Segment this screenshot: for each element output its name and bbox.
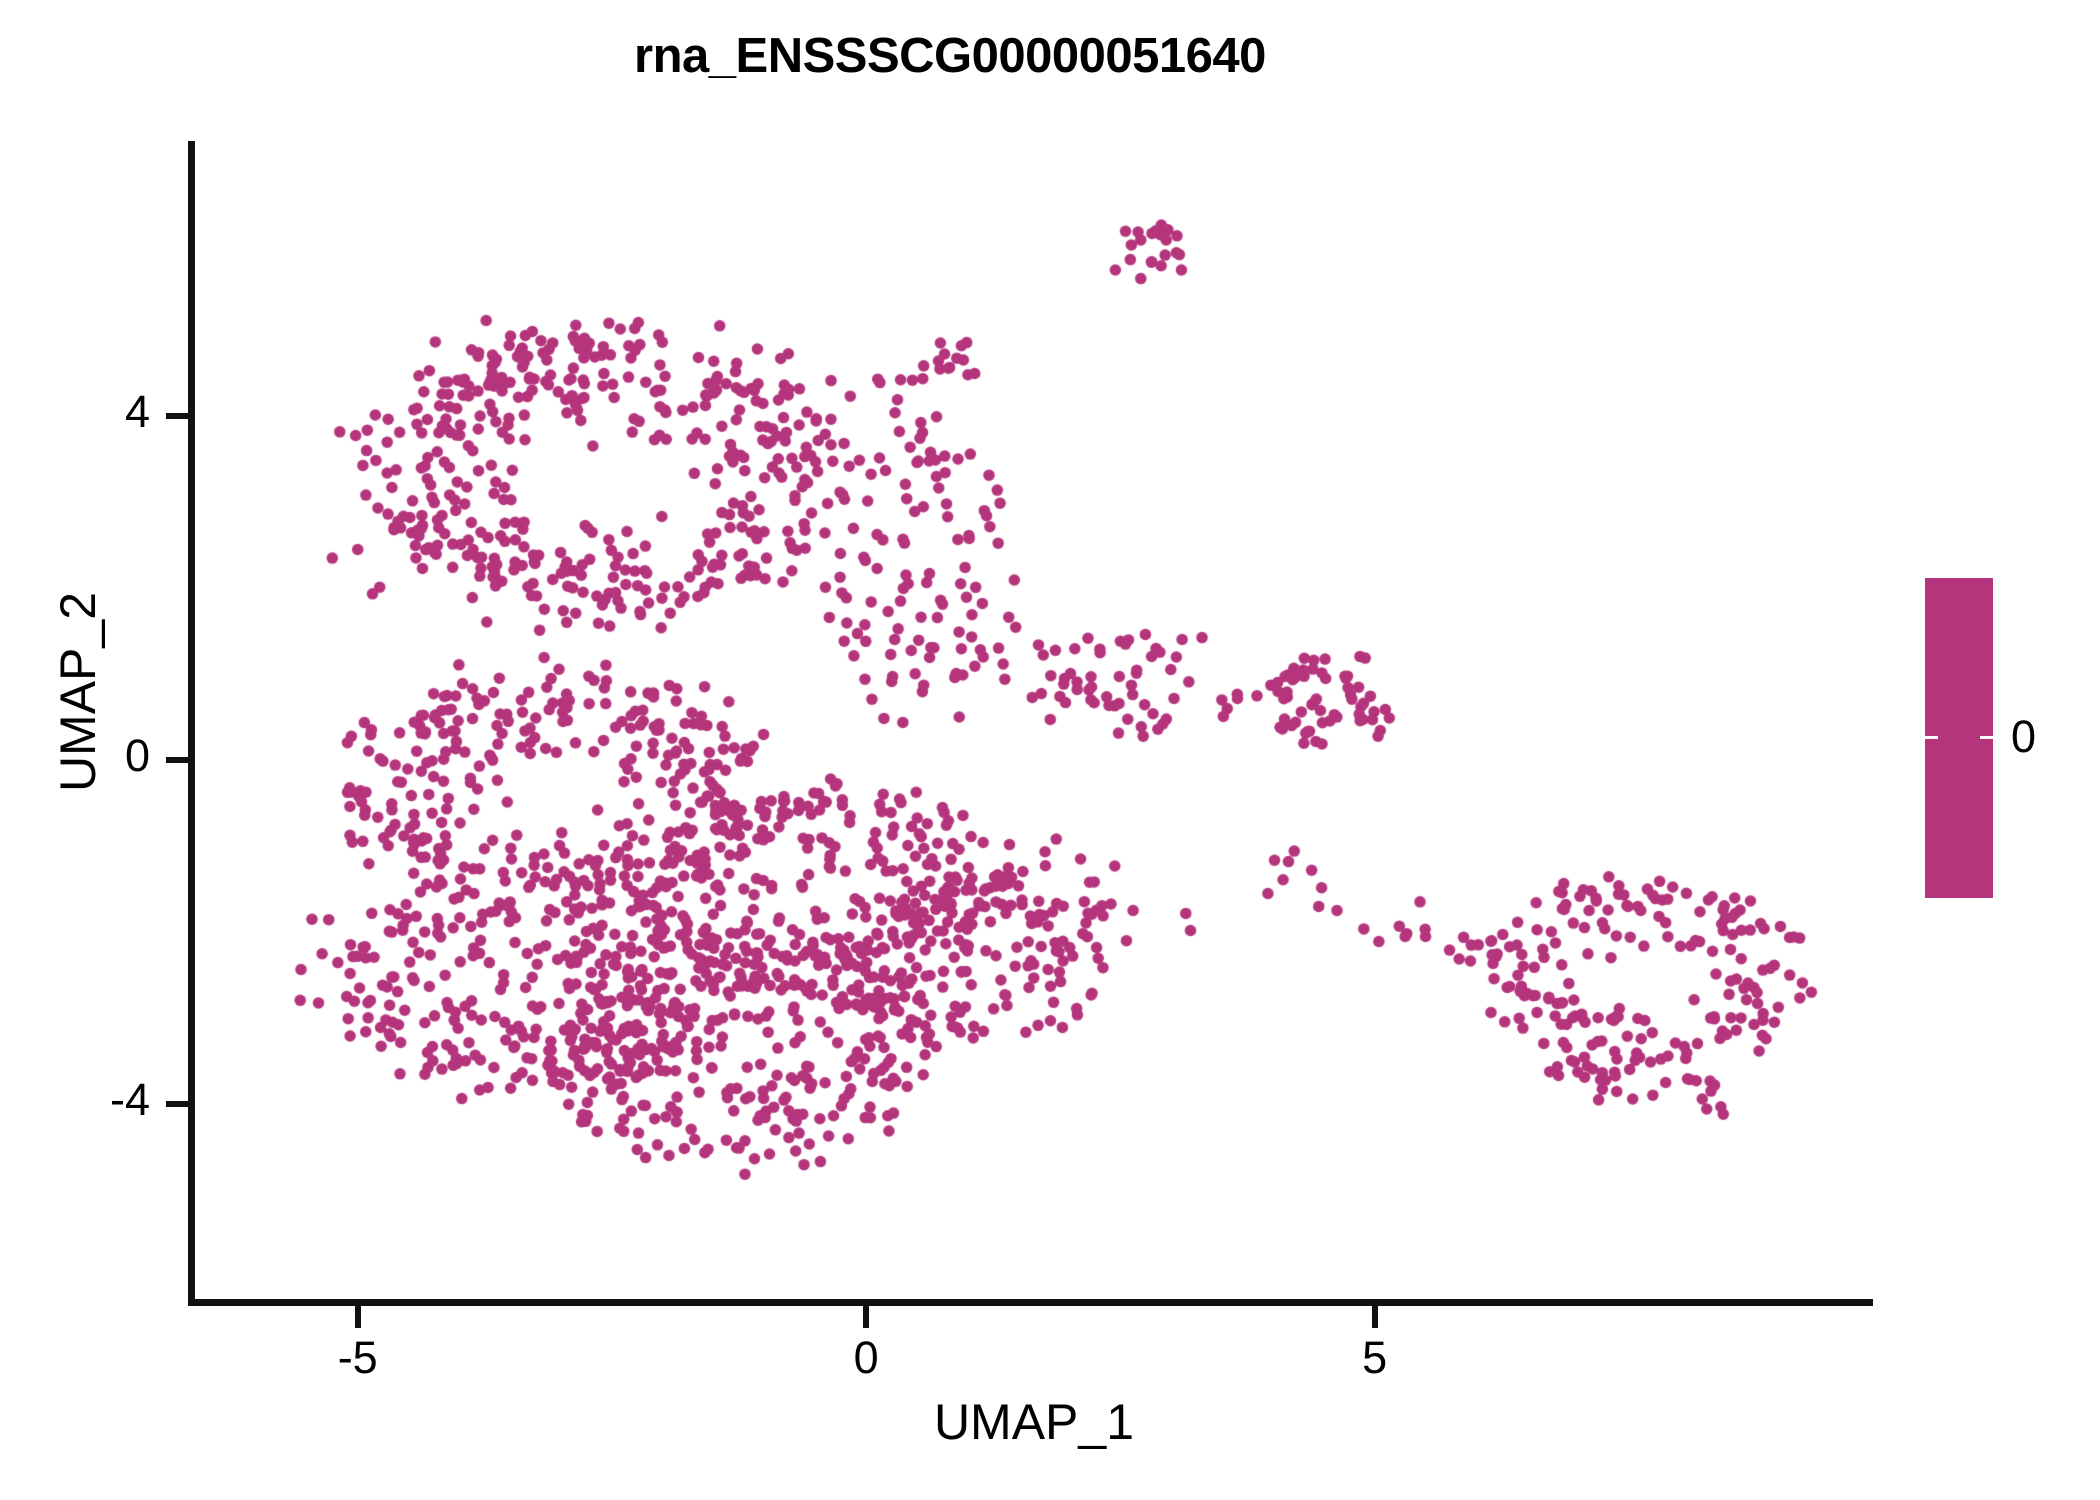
y-tick-mark: [166, 757, 188, 763]
y-tick-mark: [166, 1101, 188, 1107]
x-tick-label: 0: [806, 1332, 926, 1384]
y-axis-title: UMAP_2: [49, 392, 107, 992]
y-axis-line: [188, 141, 195, 1306]
colorbar-tick-right-icon: [1980, 736, 1993, 739]
plot-panel: [195, 141, 1873, 1302]
umap-feature-plot: rna_ENSSSCG00000051640 -404-505 UMAP_1 U…: [0, 0, 2100, 1500]
x-axis-line: [188, 1299, 1873, 1306]
x-tick-mark: [863, 1306, 869, 1328]
x-tick-label: 5: [1315, 1332, 1435, 1384]
colorbar-tick-label: 0: [2011, 711, 2036, 763]
x-axis-title: UMAP_1: [195, 1393, 1873, 1451]
y-tick-mark: [166, 413, 188, 419]
y-tick-label: -4: [110, 1074, 150, 1126]
y-tick-label: 0: [125, 730, 150, 782]
x-tick-mark: [355, 1306, 361, 1328]
legend-colorbar[interactable]: 0: [1925, 578, 2075, 898]
page-title: rna_ENSSSCG00000051640: [0, 28, 1900, 84]
scatter-plot-canvas: [195, 141, 1873, 1302]
y-tick-label: 4: [125, 386, 150, 438]
colorbar-tick-left-icon: [1925, 736, 1938, 739]
x-tick-label: -5: [298, 1332, 418, 1384]
x-tick-mark: [1372, 1306, 1378, 1328]
